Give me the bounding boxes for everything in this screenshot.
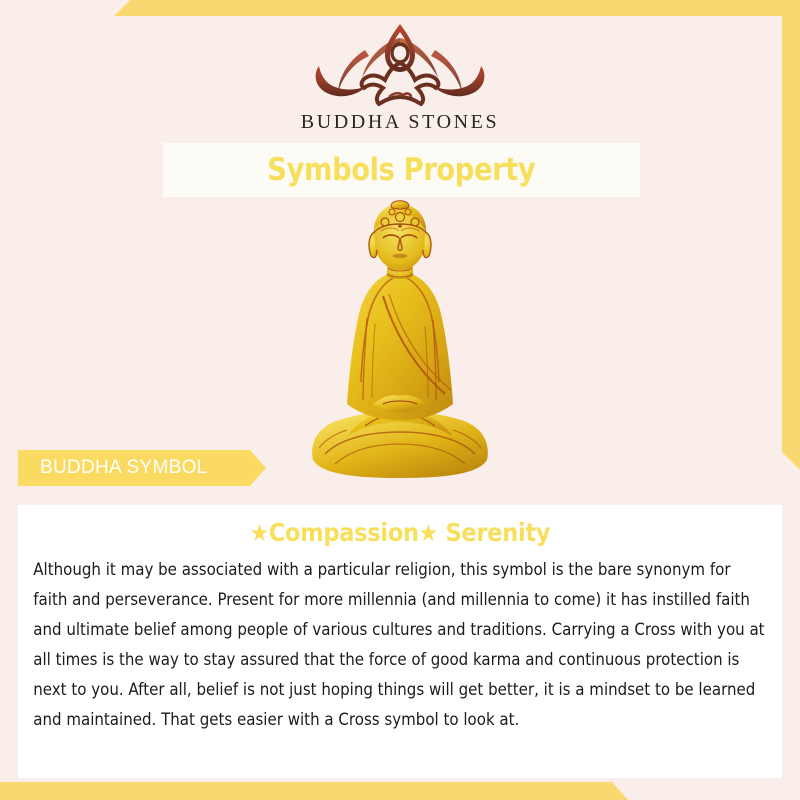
frame-top-band bbox=[0, 0, 800, 16]
golden-buddha-statue-icon bbox=[295, 198, 505, 488]
symbol-category-ribbon: BUDDHA SYMBOL bbox=[18, 450, 266, 486]
description-card: ★Compassion★ Serenity Although it may be… bbox=[18, 505, 782, 778]
symbol-category-label: BUDDHA SYMBOL bbox=[40, 457, 208, 479]
star-icon-left: ★ bbox=[250, 519, 269, 547]
attribute-serenity: Serenity bbox=[445, 518, 550, 547]
attributes-subtitle: ★Compassion★ Serenity bbox=[65, 518, 735, 547]
frame-bottom-band bbox=[0, 782, 800, 800]
brand-name: BUDDHA STONES bbox=[301, 111, 499, 134]
lotus-meditation-icon bbox=[305, 18, 495, 106]
page-title: Symbols Property bbox=[267, 152, 535, 188]
star-icon-right: ★ bbox=[419, 519, 438, 547]
product-info-graphic: BUDDHA STONES Symbols Property bbox=[0, 0, 800, 800]
attribute-compassion: Compassion bbox=[269, 518, 419, 547]
title-banner: Symbols Property bbox=[163, 143, 640, 197]
brand-logo: BUDDHA STONES bbox=[0, 18, 800, 134]
description-body: Although it may be associated with a par… bbox=[28, 555, 770, 735]
